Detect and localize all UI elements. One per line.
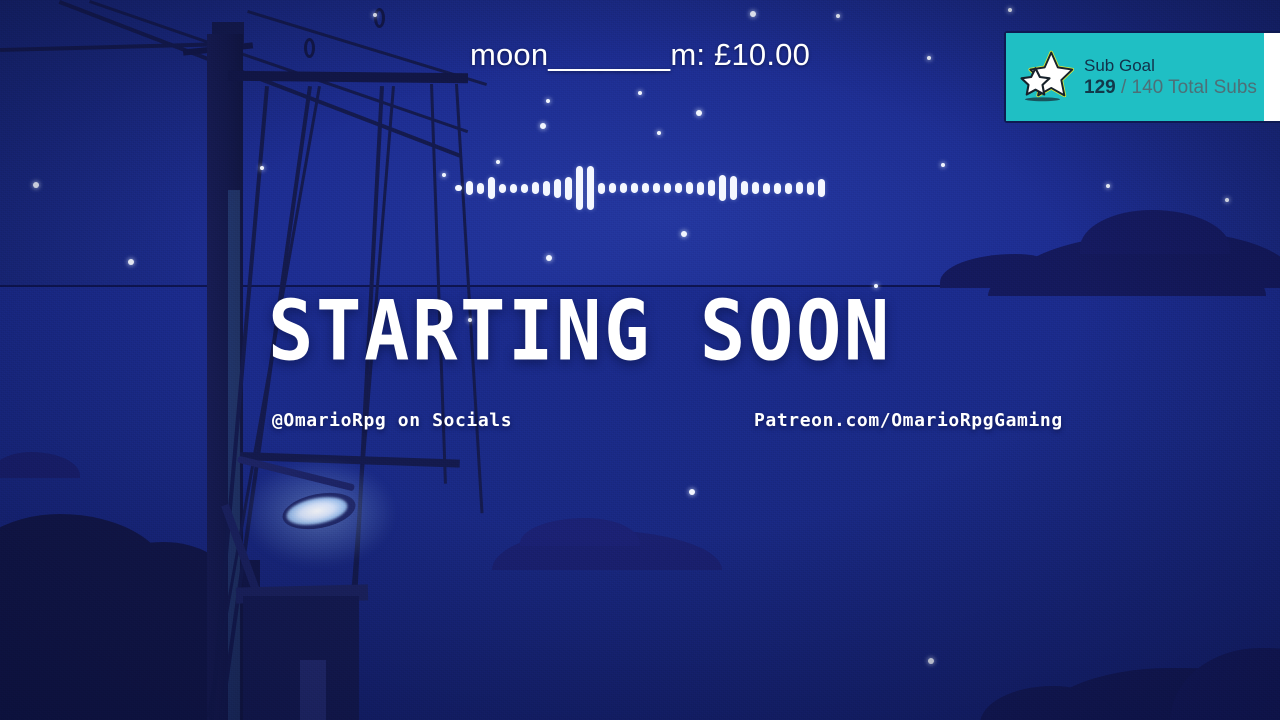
- waveform-bar: [719, 175, 726, 201]
- waveform-bar: [576, 166, 583, 210]
- sub-goal-separator: /: [1116, 77, 1132, 98]
- double-star-icon: [1018, 49, 1074, 105]
- waveform-bar: [763, 183, 770, 194]
- waveform-bar: [488, 177, 495, 199]
- audio-waveform-visualizer: [0, 160, 1280, 216]
- sub-goal-widget: Sub Goal 129 / 140 Total Subs: [1004, 31, 1280, 123]
- waveform-bar: [499, 184, 506, 193]
- waveform-bar: [686, 182, 693, 194]
- sub-goal-current-value: 129: [1084, 77, 1116, 98]
- waveform-bar: [521, 184, 528, 193]
- waveform-bar: [664, 183, 671, 193]
- waveform-bar: [477, 183, 484, 194]
- patreon-link-label[interactable]: Patreon.com/OmarioRpgGaming: [754, 410, 1063, 431]
- waveform-bar: [785, 183, 792, 194]
- waveform-bar: [752, 182, 759, 194]
- waveform-bar: [741, 181, 748, 195]
- waveform-bar: [642, 183, 649, 193]
- waveform-bar: [554, 179, 561, 198]
- waveform-bar: [532, 182, 539, 194]
- waveform-bar: [587, 166, 594, 210]
- waveform-bar: [818, 179, 825, 197]
- waveform-bar: [730, 176, 737, 200]
- sub-goal-title: Sub Goal: [1084, 55, 1257, 76]
- waveform-bar: [510, 184, 517, 193]
- waveform-bar: [774, 183, 781, 194]
- stream-overlay-scene: moon_______m: £10.00 STARTING SOON @Omar…: [0, 0, 1280, 720]
- sub-goal-target-label: 140 Total Subs: [1132, 77, 1257, 98]
- waveform-bar: [807, 182, 814, 195]
- waveform-bar: [543, 181, 550, 196]
- waveform-bar: [697, 182, 704, 195]
- waveform-bar: [455, 185, 462, 191]
- page-title: STARTING SOON: [268, 290, 892, 373]
- waveform-bar: [565, 177, 572, 200]
- waveform-bar: [631, 183, 638, 193]
- waveform-bar: [598, 183, 605, 194]
- waveform-bar: [620, 183, 627, 193]
- sub-goal-count: 129 / 140 Total Subs: [1084, 76, 1257, 100]
- waveform-bar: [466, 181, 473, 195]
- socials-handle-label: @OmarioRpg on Socials: [272, 410, 512, 431]
- waveform-bar: [796, 182, 803, 194]
- waveform-bar: [675, 183, 682, 193]
- waveform-bar: [653, 183, 660, 193]
- waveform-bar: [708, 180, 715, 196]
- waveform-bar: [609, 183, 616, 193]
